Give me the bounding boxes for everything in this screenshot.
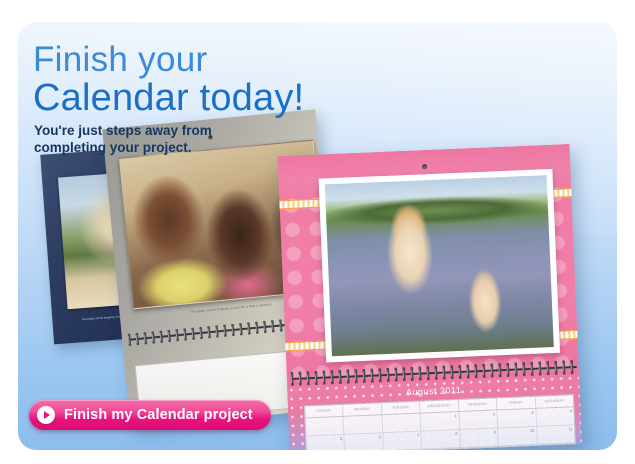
play-circle-icon [37, 406, 55, 424]
promo-panel: The quality, not the longevity, of one's… [18, 22, 617, 450]
calendar-day-cell [344, 415, 383, 434]
day-header: WEDNESDAY [420, 400, 459, 413]
calendar-day-cell: 4 [536, 407, 574, 426]
headline-block: Finish your Calendar today! [33, 40, 304, 119]
calendar-photo-girls [325, 175, 554, 356]
calendar-day-cell: 1 [421, 412, 460, 431]
calendar-photo-frame [319, 169, 560, 363]
day-header: SATURDAY [535, 395, 573, 408]
calendar-day-cell [382, 414, 421, 433]
day-header: MONDAY [343, 403, 382, 416]
calendar-day-cell: 6 [345, 433, 384, 450]
calendar-day-cell: 7 [383, 432, 422, 450]
calendar-day-cell: 8 [421, 430, 460, 449]
finish-project-button-label: Finish my Calendar project [64, 407, 253, 423]
day-header: TUESDAY [382, 402, 421, 415]
day-header: FRIDAY [497, 397, 536, 410]
day-header: THURSDAY [459, 398, 498, 411]
calendar-day-cell: 2 [459, 410, 498, 429]
calendar-day-cell: 11 [537, 425, 575, 444]
calendar-day-cell [306, 417, 345, 436]
calendar-day-cell: 9 [460, 428, 499, 447]
calendar-preview-pink[interactable]: The quality, not the longevity, of one's… [278, 144, 582, 450]
page-title-line2: Calendar today! [33, 77, 304, 119]
finish-project-button[interactable]: Finish my Calendar project [29, 400, 271, 430]
calendar-day-cell: 10 [498, 427, 537, 446]
page-title-line1: Finish your [33, 40, 304, 80]
subheading-text: You're just steps away from completing y… [34, 123, 212, 156]
day-header: SUNDAY [305, 405, 344, 418]
calendar-day-cell: 5 [306, 435, 345, 450]
calendar-day-cell: 3 [498, 409, 537, 428]
